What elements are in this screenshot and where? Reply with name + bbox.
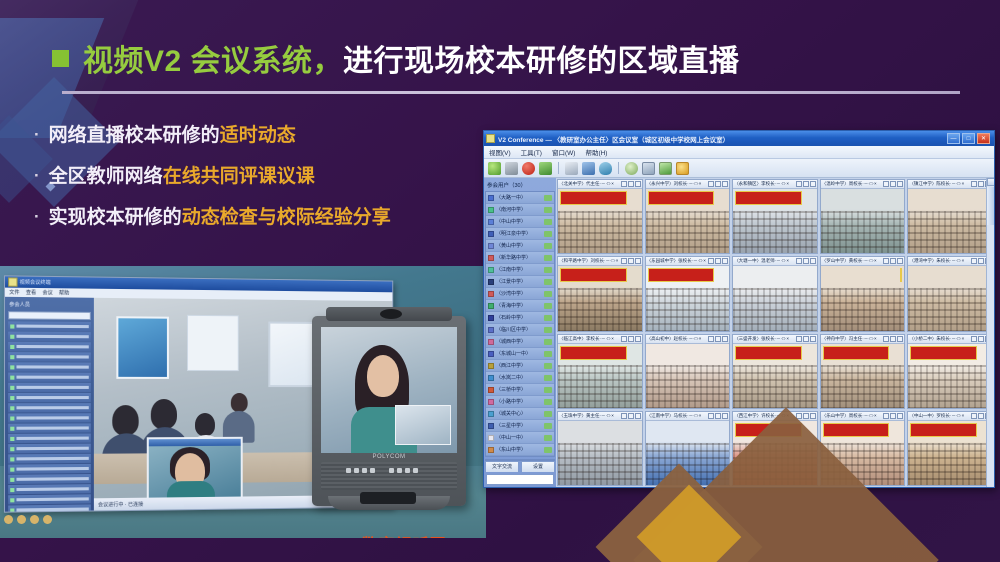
video-tile-titlebar: 〈乐山中学〉周校长·－·□·× xyxy=(821,412,905,421)
tile-maximize-button[interactable] xyxy=(803,258,809,264)
tile-minimize-button[interactable] xyxy=(621,181,627,187)
photo-sidebar-search-input[interactable] xyxy=(8,311,91,320)
video-tile[interactable]: 〈和平路中学〉刘校长·－·□·× xyxy=(557,256,643,331)
participant-color-icon xyxy=(488,291,494,297)
photo-dock-icons xyxy=(4,515,52,524)
participant-list[interactable]: 〈大路一中〉〈南河中学〉〈中山中学〉〈明江泉中学〉〈黄山中学〉〈新华路中学〉〈江… xyxy=(485,191,555,457)
monitor-person-face xyxy=(367,355,399,397)
red-event-banner xyxy=(648,191,715,205)
video-crowd-rows xyxy=(558,443,642,485)
video-tile-stream xyxy=(733,344,817,408)
video-tile-label: 〈永和镇区〉李校长·－·□·× xyxy=(734,181,795,187)
scroll-up-arrow-icon[interactable] xyxy=(987,178,994,186)
video-tile-label: 〈大塘一中〉温老师·－·□·× xyxy=(734,258,795,264)
speaker-status-icon xyxy=(544,435,552,441)
tile-close-button[interactable] xyxy=(897,181,903,187)
video-tile[interactable]: 〈乐山中学〉周校长·－·□·× xyxy=(820,411,906,486)
video-crowd-rows xyxy=(733,365,817,407)
close-button[interactable]: ✕ xyxy=(977,133,990,144)
video-tile-label: 〈江南中学〉马校长·－·□·× xyxy=(647,413,708,419)
tile-maximize-button[interactable] xyxy=(890,181,896,187)
video-crowd-rows xyxy=(733,288,817,330)
bullet-text: 实现校本研修的 xyxy=(49,207,182,228)
participant-name-bar xyxy=(16,335,88,339)
video-tile[interactable]: 〈西江中学〉许校长·－·□·× xyxy=(732,411,818,486)
photo-app-menu-view[interactable]: 查看 xyxy=(26,289,36,296)
video-tile-label: 〈东园城中学〉张校长·－·□·× xyxy=(647,258,708,264)
participant-name: 〈西江中学〉 xyxy=(496,362,542,369)
tile-minimize-button[interactable] xyxy=(883,258,889,264)
list-icon[interactable] xyxy=(565,162,578,175)
participant-name-bar xyxy=(16,396,88,399)
tile-maximize-button[interactable] xyxy=(978,336,984,342)
photo-participant-row[interactable] xyxy=(8,454,91,464)
participant-color-icon xyxy=(488,435,494,441)
photo-app-title-text: 视频会议终端 xyxy=(20,279,51,287)
lock-icon[interactable] xyxy=(642,162,655,175)
video-tile[interactable]: 〈大塘一中〉温老师·－·□·× xyxy=(732,256,818,331)
speaker-status-icon xyxy=(544,303,552,309)
dock-icon-1 xyxy=(4,515,13,524)
video-tile[interactable]: 〈罗山中学〉黄校长·－·□·× xyxy=(820,256,906,331)
title-green-text: 视频V2 会议系统， xyxy=(83,45,343,78)
participant-color-icon xyxy=(488,315,494,321)
conference-body: 参会用户（30） 〈大路一中〉〈南河中学〉〈中山中学〉〈明江泉中学〉〈黄山中学〉… xyxy=(484,178,994,487)
video-crowd-rows xyxy=(558,365,642,407)
participant-color-icon xyxy=(488,243,494,249)
tile-minimize-button[interactable] xyxy=(971,413,977,419)
bullet-text: 网络直播校本研修的 xyxy=(49,125,220,146)
video-tile-stream xyxy=(733,266,817,330)
tile-close-button[interactable] xyxy=(897,413,903,419)
slide-canvas: 视频V2 会议系统，进行现场校本研修的区域直播 · 网络直播校本研修的适时动态 … xyxy=(0,0,1000,562)
speaker-status-icon xyxy=(544,423,552,429)
grid-scrollbar[interactable] xyxy=(986,178,994,487)
bullet-highlight: 在线共同评课议课 xyxy=(163,166,315,187)
tile-close-button[interactable] xyxy=(722,181,728,187)
video-tile-titlebar: 〈东园城中学〉张校长·－·□·× xyxy=(646,257,730,266)
tile-maximize-button[interactable] xyxy=(628,181,634,187)
video-tile[interactable]: 〈温岭中学〉周校长·－·□·× xyxy=(820,179,906,254)
tile-maximize-button[interactable] xyxy=(715,258,721,264)
photo-whiteboard xyxy=(187,315,239,371)
status-dot-icon xyxy=(10,385,14,389)
minimize-button[interactable]: — xyxy=(947,133,960,144)
speaker-status-icon xyxy=(544,387,552,393)
participant-row[interactable]: 〈三桥中学〉 xyxy=(486,384,554,396)
tile-maximize-button[interactable] xyxy=(978,181,984,187)
speaker-status-icon xyxy=(544,363,552,369)
video-crowd-rows xyxy=(908,365,992,407)
participant-name: 〈南河中学〉 xyxy=(496,206,542,213)
tile-close-button[interactable] xyxy=(810,181,816,187)
tile-maximize-button[interactable] xyxy=(890,413,896,419)
tile-close-button[interactable] xyxy=(810,413,816,419)
tile-close-button[interactable] xyxy=(722,336,728,342)
video-crowd-rows xyxy=(646,211,730,253)
monitor-speaker-grille xyxy=(321,462,457,490)
video-tile-label: 〈中山一中〉罗校长·－·□·× xyxy=(909,413,970,419)
video-tile-stream xyxy=(821,421,905,485)
video-tile-stream xyxy=(908,266,992,330)
tile-minimize-button[interactable] xyxy=(708,413,714,419)
participant-row[interactable]: 〈黄山中学〉 xyxy=(486,240,554,252)
photo-participant-row[interactable] xyxy=(8,434,91,444)
menu-help[interactable]: 帮助(H) xyxy=(585,147,607,157)
participant-name: 〈沙湾中学〉 xyxy=(496,290,542,297)
tile-maximize-button[interactable] xyxy=(628,413,634,419)
participant-name-bar xyxy=(16,467,88,471)
participant-name: 〈大路一中〉 xyxy=(496,194,542,201)
tile-minimize-button[interactable] xyxy=(621,258,627,264)
participant-name-bar xyxy=(16,447,88,451)
speaker-status-icon xyxy=(544,291,552,297)
tile-maximize-button[interactable] xyxy=(803,413,809,419)
video-tile-titlebar: 〈江南中学〉马校长·－·□·× xyxy=(646,412,730,421)
red-event-banner xyxy=(910,346,977,360)
video-tile-label: 〈镇江中学〉陈校长·－·□·× xyxy=(909,181,970,187)
tile-minimize-button[interactable] xyxy=(971,181,977,187)
tile-close-button[interactable] xyxy=(897,258,903,264)
participant-name: 〈小路中学〉 xyxy=(496,398,542,405)
video-crowd-rows xyxy=(733,211,817,253)
video-conference-monitor: POLYCOM xyxy=(312,316,466,506)
participant-color-icon xyxy=(488,423,494,429)
photo-sidebar-title: 参会人员 xyxy=(7,300,92,310)
photo-participant-row[interactable] xyxy=(8,423,91,432)
speaker-status-icon xyxy=(544,339,552,345)
speaker-status-icon xyxy=(544,231,552,237)
video-tile[interactable]: 〈江南中学〉马校长·－·□·× xyxy=(645,411,731,486)
participant-color-icon xyxy=(488,195,494,201)
video-tile[interactable]: 〈三盛开发〉张校长·－·□·× xyxy=(732,334,818,409)
red-event-banner xyxy=(900,268,902,282)
video-tile-stream xyxy=(908,189,992,253)
export-icon[interactable] xyxy=(659,162,672,175)
broadcast-icon[interactable] xyxy=(505,162,518,175)
menu-window[interactable]: 窗口(W) xyxy=(552,147,575,157)
video-tile-titlebar: 〈西江中学〉许校长·－·□·× xyxy=(733,412,817,421)
title-divider-rule xyxy=(62,91,960,94)
video-tile-stream xyxy=(558,189,642,253)
participant-name: 〈江景中学〉 xyxy=(496,278,542,285)
monitor-control-buttons xyxy=(346,468,418,473)
tile-close-button[interactable] xyxy=(635,181,641,187)
tile-minimize-button[interactable] xyxy=(708,336,714,342)
status-dot-icon xyxy=(10,447,14,451)
video-tile-titlebar: 〈大塘一中〉温老师·－·□·× xyxy=(733,257,817,266)
camera-lens-icon xyxy=(380,309,402,319)
photo-participant-row[interactable] xyxy=(8,373,91,382)
photo-participant-row[interactable] xyxy=(8,504,91,511)
photo-participant-row[interactable] xyxy=(8,321,91,331)
participant-row[interactable]: 〈东山中学〉 xyxy=(486,444,554,456)
speaker-status-icon xyxy=(544,351,552,357)
photo-participant-row[interactable] xyxy=(8,403,91,412)
layout-icon[interactable] xyxy=(539,162,552,175)
video-tile[interactable]: 〈港湾中学〉朱校长·－·□·× xyxy=(907,256,993,331)
tile-maximize-button[interactable] xyxy=(890,258,896,264)
tile-maximize-button[interactable] xyxy=(803,181,809,187)
tile-minimize-button[interactable] xyxy=(971,336,977,342)
video-tile-titlebar: 〈高山初中〉赵校长·－·□·× xyxy=(646,335,730,344)
bullet-text: 全区教师网络 xyxy=(49,166,163,187)
tile-maximize-button[interactable] xyxy=(715,181,721,187)
participant-row[interactable]: 〈城关中心〉 xyxy=(486,408,554,420)
participant-row[interactable]: 〈水岚二中〉 xyxy=(486,372,554,384)
tile-close-button[interactable] xyxy=(635,336,641,342)
chat-input[interactable] xyxy=(486,474,554,485)
video-tile-titlebar: 〈临江高中〉李校长·－·□·× xyxy=(558,335,642,344)
participant-name-bar xyxy=(16,477,88,481)
participant-row[interactable]: 〈江景中学〉 xyxy=(486,276,554,288)
status-dot-icon xyxy=(10,365,14,369)
tile-close-button[interactable] xyxy=(810,336,816,342)
photo-participant-row[interactable] xyxy=(8,413,91,422)
video-tile[interactable]: 〈神舟中学〉冯主任·－·□·× xyxy=(820,334,906,409)
speaker-status-icon xyxy=(544,375,552,381)
photo-participant-row[interactable] xyxy=(8,464,91,474)
video-tile[interactable]: 〈中山一中〉罗校长·－·□·× xyxy=(907,411,993,486)
speaker-status-icon xyxy=(544,327,552,333)
video-tile-label: 〈港湾中学〉朱校长·－·□·× xyxy=(909,258,970,264)
list-item: · 网络直播校本研修的适时动态 xyxy=(34,124,474,148)
video-tile[interactable]: 〈小桥二中〉朱校长·－·□·× xyxy=(907,334,993,409)
video-tile-titlebar: 〈温岭中学〉周校长·－·□·× xyxy=(821,180,905,189)
tile-close-button[interactable] xyxy=(722,413,728,419)
participant-name: 〈三星中学〉 xyxy=(496,422,542,429)
participant-row[interactable]: 〈中山一中〉 xyxy=(486,432,554,444)
video-crowd-rows xyxy=(908,211,992,253)
participant-row[interactable]: 〈临川区中学〉 xyxy=(486,324,554,336)
video-tile[interactable]: 〈临江高中〉李校长·－·□·× xyxy=(557,334,643,409)
speaker-status-icon xyxy=(544,255,552,261)
tile-maximize-button[interactable] xyxy=(803,336,809,342)
maximize-button[interactable]: □ xyxy=(962,133,975,144)
participant-color-icon xyxy=(488,399,494,405)
video-crowd-rows xyxy=(908,443,992,485)
tile-minimize-button[interactable] xyxy=(708,258,714,264)
participant-name-bar xyxy=(16,345,88,348)
video-tile-stream xyxy=(558,344,642,408)
tile-close-button[interactable] xyxy=(635,258,641,264)
participant-name-bar xyxy=(16,437,88,440)
conference-titlebar: V2 Conference — 〈教研室办公主任〉区会议室（城区初级中学校网上会… xyxy=(484,131,994,146)
tile-minimize-button[interactable] xyxy=(971,258,977,264)
conference-menubar: 视图(V) 工具(T) 窗口(W) 帮助(H) xyxy=(484,146,994,159)
menu-tools[interactable]: 工具(T) xyxy=(521,147,542,157)
tab-chat[interactable]: 文字交流 xyxy=(485,461,519,472)
status-dot-icon xyxy=(10,426,14,430)
participant-row[interactable]: 〈明江泉中学〉 xyxy=(486,228,554,240)
video-tile-stream xyxy=(821,344,905,408)
participant-color-icon xyxy=(488,375,494,381)
photo-person-head xyxy=(231,393,248,412)
participant-color-icon xyxy=(488,363,494,369)
tile-close-button[interactable] xyxy=(635,413,641,419)
photo-app-menu-help[interactable]: 帮助 xyxy=(59,289,69,296)
video-crowd-rows xyxy=(821,288,905,330)
photo-participant-row[interactable] xyxy=(8,474,91,484)
tile-minimize-button[interactable] xyxy=(621,413,627,419)
video-tile-label: 〈临江高中〉李校长·－·□·× xyxy=(559,336,620,342)
participant-row[interactable]: 〈沙湾中学〉 xyxy=(486,288,554,300)
menu-view[interactable]: 视图(V) xyxy=(489,147,511,157)
participant-name: 〈城西中学〉 xyxy=(496,338,542,345)
participant-color-icon xyxy=(488,411,494,417)
participant-color-icon xyxy=(488,219,494,225)
tile-maximize-button[interactable] xyxy=(890,336,896,342)
photo-person-head xyxy=(151,399,177,429)
participant-name-bar xyxy=(16,457,88,461)
tile-minimize-button[interactable] xyxy=(796,336,802,342)
video-tile-titlebar: 〈中山一中〉罗校长·－·□·× xyxy=(908,412,992,421)
list-item: · 实现校本研修的动态检查与校际经验分享 xyxy=(34,206,474,230)
participant-name: 〈青海中学〉 xyxy=(496,302,542,309)
participant-row[interactable]: 〈青海中学〉 xyxy=(486,300,554,312)
tile-close-button[interactable] xyxy=(810,258,816,264)
participant-row[interactable]: 〈新华路中学〉 xyxy=(486,252,554,264)
participant-name: 〈新华路中学〉 xyxy=(496,254,542,261)
video-tile-stream xyxy=(908,421,992,485)
tile-minimize-button[interactable] xyxy=(708,181,714,187)
video-tile[interactable]: 〈北关中学〉代主任·－·□·× xyxy=(557,179,643,254)
tile-minimize-button[interactable] xyxy=(621,336,627,342)
participant-name: 〈江南中学〉 xyxy=(496,266,542,273)
photo-participant-row[interactable] xyxy=(8,393,91,402)
red-event-banner xyxy=(560,191,627,205)
participant-row[interactable]: 〈小路中学〉 xyxy=(486,396,554,408)
participant-row[interactable]: 〈江南中学〉 xyxy=(486,264,554,276)
participant-row[interactable]: 〈三星中学〉 xyxy=(486,420,554,432)
tile-maximize-button[interactable] xyxy=(978,258,984,264)
participant-row[interactable]: 〈南河中学〉 xyxy=(486,204,554,216)
photo-participant-row[interactable] xyxy=(8,352,91,362)
tile-maximize-button[interactable] xyxy=(628,258,634,264)
video-tile[interactable]: 〈永兴中学〉刘校长·－·□·× xyxy=(645,179,731,254)
participant-row[interactable]: 〈东城山一中〉 xyxy=(486,348,554,360)
tile-maximize-button[interactable] xyxy=(628,336,634,342)
participant-name-bar xyxy=(16,325,88,329)
video-tile-titlebar: 〈玉珠中学〉黄主任·－·□·× xyxy=(558,412,642,421)
speaker-status-icon xyxy=(544,219,552,225)
participant-row[interactable]: 〈城西中学〉 xyxy=(486,336,554,348)
conference-sidebar: 参会用户（30） 〈大路一中〉〈南河中学〉〈中山中学〉〈明江泉中学〉〈黄山中学〉… xyxy=(484,178,556,487)
participant-name: 〈中山一中〉 xyxy=(496,434,542,441)
video-tile-label: 〈玉珠中学〉黄主任·－·□·× xyxy=(559,413,620,419)
red-event-banner xyxy=(735,423,802,437)
scrollbar-thumb[interactable] xyxy=(987,187,994,225)
video-crowd-rows xyxy=(908,288,992,330)
participant-name: 〈石岭中学〉 xyxy=(496,314,542,321)
photo-participant-row[interactable] xyxy=(8,383,91,392)
participant-name: 〈城关中心〉 xyxy=(496,410,542,417)
photo-participant-row[interactable] xyxy=(8,362,91,371)
participant-color-icon xyxy=(488,327,494,333)
participant-color-icon xyxy=(488,303,494,309)
photo-participant-row[interactable] xyxy=(8,342,91,352)
participant-color-icon xyxy=(488,255,494,261)
monitor-pip-view xyxy=(395,405,451,445)
bullet-marker-icon: · xyxy=(34,206,40,229)
video-tile[interactable]: 〈镇江中学〉陈校长·－·□·× xyxy=(907,179,993,254)
photo-person-head xyxy=(195,413,215,436)
tile-close-button[interactable] xyxy=(897,336,903,342)
settings-icon[interactable] xyxy=(625,162,638,175)
video-tile[interactable]: 〈高山初中〉赵校长·－·□·× xyxy=(645,334,731,409)
photo-participant-row[interactable] xyxy=(8,444,91,454)
participant-row[interactable]: 〈西江中学〉 xyxy=(486,360,554,372)
home-icon[interactable] xyxy=(488,162,501,175)
dock-icon-2 xyxy=(17,515,26,524)
status-dot-icon xyxy=(10,375,14,379)
tile-minimize-button[interactable] xyxy=(796,258,802,264)
status-dot-icon xyxy=(10,477,14,481)
tile-minimize-button[interactable] xyxy=(796,413,802,419)
photo-app-menu-meeting[interactable]: 会议 xyxy=(42,289,52,296)
photo-participant-row[interactable] xyxy=(8,332,91,342)
camera-icon[interactable] xyxy=(582,162,595,175)
participant-color-icon xyxy=(488,231,494,237)
participant-row[interactable]: 〈中山中学〉 xyxy=(486,216,554,228)
participant-name-bar xyxy=(16,487,88,491)
video-tile-stream xyxy=(646,421,730,485)
video-tile-stream xyxy=(908,344,992,408)
photo-person-head xyxy=(112,405,138,435)
photo-participant-row[interactable] xyxy=(8,484,91,494)
participant-row[interactable]: 〈大路一中〉 xyxy=(486,192,554,204)
participant-name-bar xyxy=(16,406,88,409)
participant-name: 〈三桥中学〉 xyxy=(496,386,542,393)
participant-row[interactable]: 〈石岭中学〉 xyxy=(486,312,554,324)
video-tile[interactable]: 〈玉珠中学〉黄主任·－·□·× xyxy=(557,411,643,486)
red-event-banner xyxy=(560,268,627,282)
monitor-brand-label: POLYCOM xyxy=(312,454,466,460)
video-crowd-rows xyxy=(646,288,730,330)
tab-settings[interactable]: 设置 xyxy=(521,461,555,472)
video-tile-titlebar: 〈小桥二中〉朱校长·－·□·× xyxy=(908,335,992,344)
tile-maximize-button[interactable] xyxy=(715,413,721,419)
tile-maximize-button[interactable] xyxy=(978,413,984,419)
tile-maximize-button[interactable] xyxy=(715,336,721,342)
photo-participant-list xyxy=(7,321,92,511)
tile-minimize-button[interactable] xyxy=(883,336,889,342)
video-crowd-rows xyxy=(821,365,905,407)
participant-color-icon xyxy=(488,447,494,453)
bullet-marker-icon: · xyxy=(34,165,40,188)
red-event-banner xyxy=(735,346,802,360)
video-tile-titlebar: 〈北关中学〉代主任·－·□·× xyxy=(558,180,642,189)
video-tile-stream xyxy=(646,189,730,253)
video-tile[interactable]: 〈东园城中学〉张校长·－·□·× xyxy=(645,256,731,331)
video-tile-stream xyxy=(646,344,730,408)
photo-app-menu-file[interactable]: 文件 xyxy=(9,289,19,296)
info-icon[interactable] xyxy=(676,162,689,175)
participant-name-bar xyxy=(16,426,88,429)
monitor-btn-group-left xyxy=(346,468,375,473)
speaker-status-icon xyxy=(544,207,552,213)
title-bullet-square-icon xyxy=(52,50,69,67)
record-icon[interactable] xyxy=(522,162,535,175)
video-crowd-rows xyxy=(733,443,817,485)
tile-minimize-button[interactable] xyxy=(883,413,889,419)
mic-icon[interactable] xyxy=(599,162,612,175)
tile-close-button[interactable] xyxy=(722,258,728,264)
tile-minimize-button[interactable] xyxy=(883,181,889,187)
photo-participant-row[interactable] xyxy=(8,494,91,504)
video-tile[interactable]: 〈永和镇区〉李校长·－·□·× xyxy=(732,179,818,254)
tile-minimize-button[interactable] xyxy=(796,181,802,187)
